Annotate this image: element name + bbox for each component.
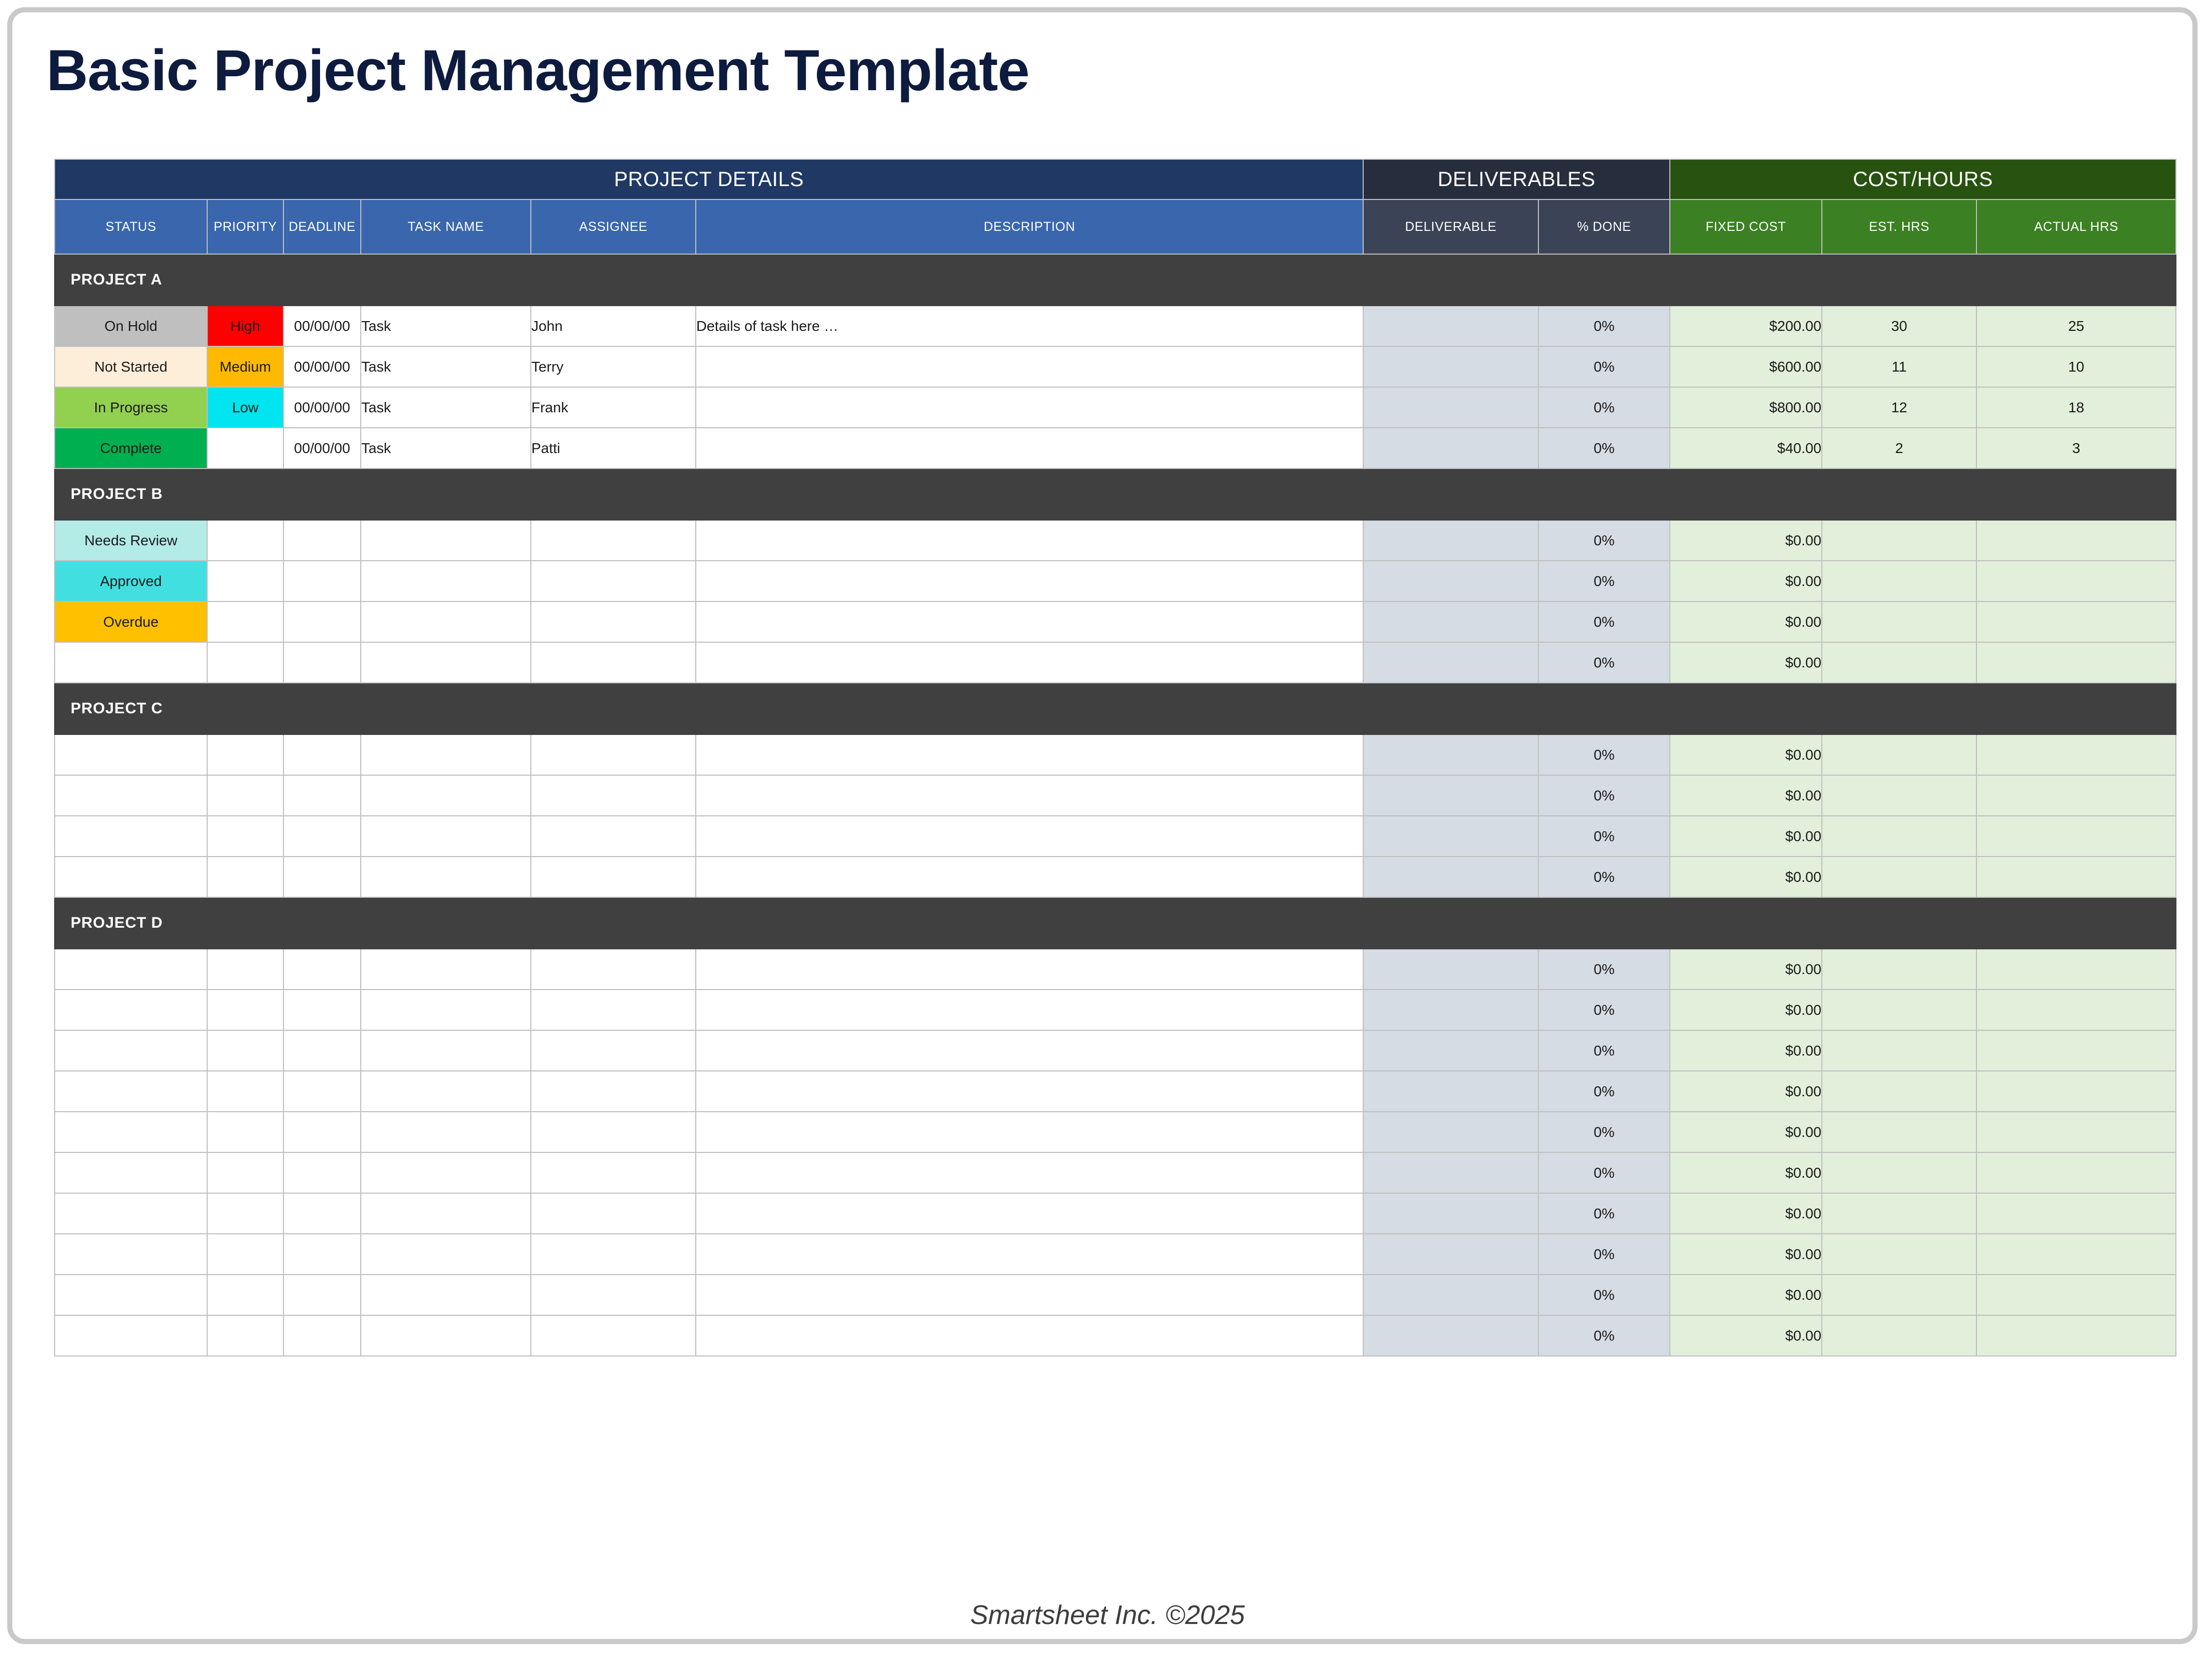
description-cell[interactable] xyxy=(696,346,1363,387)
task-name-cell[interactable] xyxy=(361,775,531,816)
fixed-cost-cell[interactable]: $0.00 xyxy=(1670,1112,1822,1152)
percent-done-cell[interactable]: 0% xyxy=(1538,816,1670,857)
percent-done-cell[interactable]: 0% xyxy=(1538,1030,1670,1071)
fixed-cost-cell[interactable]: $0.00 xyxy=(1670,561,1822,601)
percent-done-cell[interactable]: 0% xyxy=(1538,857,1670,897)
percent-done-cell[interactable]: 0% xyxy=(1538,1275,1670,1315)
percent-done-cell[interactable]: 0% xyxy=(1538,1234,1670,1275)
assignee-cell[interactable] xyxy=(531,601,696,642)
fixed-cost-cell[interactable]: $0.00 xyxy=(1670,642,1822,683)
banner-project-details: PROJECT DETAILS xyxy=(55,159,1363,199)
deadline-cell[interactable] xyxy=(283,1030,361,1071)
percent-done-cell[interactable]: 0% xyxy=(1538,561,1670,601)
assignee-cell[interactable] xyxy=(531,1234,696,1275)
task-name-cell[interactable] xyxy=(361,949,531,990)
deadline-cell[interactable] xyxy=(283,816,361,857)
deadline-cell[interactable] xyxy=(283,642,361,683)
fixed-cost-cell[interactable]: $40.00 xyxy=(1670,428,1822,468)
task-name-cell[interactable] xyxy=(361,561,531,601)
description-cell[interactable] xyxy=(696,816,1363,857)
deliverable-cell[interactable] xyxy=(1363,1152,1538,1193)
fixed-cost-cell[interactable]: $0.00 xyxy=(1670,1030,1822,1071)
assignee-cell[interactable] xyxy=(531,816,696,857)
assignee-cell[interactable] xyxy=(531,642,696,683)
fixed-cost-cell[interactable]: $0.00 xyxy=(1670,1234,1822,1275)
est-hrs-cell[interactable]: 12 xyxy=(1822,387,1976,428)
assignee-cell[interactable] xyxy=(531,561,696,601)
deliverable-cell[interactable] xyxy=(1363,1030,1538,1071)
task-name-cell[interactable] xyxy=(361,1193,531,1234)
priority-cell[interactable] xyxy=(207,601,283,642)
column-header-priority[interactable]: PRIORITY xyxy=(207,199,283,254)
deadline-cell[interactable] xyxy=(283,1315,361,1356)
task-name-cell[interactable] xyxy=(361,520,531,561)
deliverable-cell[interactable] xyxy=(1363,857,1538,897)
table-row: 0%$0.00 xyxy=(55,1071,2176,1112)
priority-cell[interactable] xyxy=(207,1315,283,1356)
actual-hrs-cell[interactable] xyxy=(1976,642,2176,683)
est-hrs-cell[interactable] xyxy=(1822,990,1976,1030)
status-cell[interactable] xyxy=(55,1152,207,1193)
est-hrs-cell[interactable]: 30 xyxy=(1822,306,1976,346)
actual-hrs-cell[interactable]: 25 xyxy=(1976,306,2176,346)
description-cell[interactable] xyxy=(696,520,1363,561)
task-name-cell[interactable] xyxy=(361,1234,531,1275)
deliverable-cell[interactable] xyxy=(1363,1112,1538,1152)
priority-cell[interactable] xyxy=(207,428,283,468)
deliverable-cell[interactable] xyxy=(1363,642,1538,683)
deadline-cell[interactable] xyxy=(283,990,361,1030)
deadline-cell[interactable] xyxy=(283,857,361,897)
actual-hrs-cell[interactable] xyxy=(1976,990,2176,1030)
description-cell[interactable] xyxy=(696,1112,1363,1152)
percent-done-cell[interactable]: 0% xyxy=(1538,990,1670,1030)
assignee-cell[interactable] xyxy=(531,1112,696,1152)
deliverable-cell[interactable] xyxy=(1363,990,1538,1030)
status-cell[interactable]: Approved xyxy=(55,561,207,601)
table-row: 0%$0.00 xyxy=(55,1152,2176,1193)
percent-done-cell[interactable]: 0% xyxy=(1538,775,1670,816)
est-hrs-cell[interactable] xyxy=(1822,1071,1976,1112)
status-cell[interactable] xyxy=(55,990,207,1030)
deliverable-cell[interactable] xyxy=(1363,775,1538,816)
status-cell[interactable] xyxy=(55,642,207,683)
percent-done-cell[interactable]: 0% xyxy=(1538,428,1670,468)
description-cell[interactable]: Details of task here … xyxy=(696,306,1363,346)
percent-done-cell[interactable]: 0% xyxy=(1538,520,1670,561)
est-hrs-cell[interactable] xyxy=(1822,734,1976,775)
fixed-cost-cell[interactable]: $0.00 xyxy=(1670,990,1822,1030)
description-cell[interactable] xyxy=(696,1152,1363,1193)
task-name-cell[interactable] xyxy=(361,1112,531,1152)
table-row: Needs Review0%$0.00 xyxy=(55,520,2176,561)
deadline-cell[interactable]: 00/00/00 xyxy=(283,428,361,468)
status-cell[interactable] xyxy=(55,1275,207,1315)
priority-cell[interactable] xyxy=(207,1112,283,1152)
est-hrs-cell[interactable] xyxy=(1822,1275,1976,1315)
assignee-cell[interactable]: Patti xyxy=(531,428,696,468)
deliverable-cell[interactable] xyxy=(1363,520,1538,561)
deliverable-cell[interactable] xyxy=(1363,1315,1538,1356)
priority-cell[interactable] xyxy=(207,561,283,601)
deadline-cell[interactable] xyxy=(283,1234,361,1275)
fixed-cost-cell[interactable]: $0.00 xyxy=(1670,1193,1822,1234)
fixed-cost-cell[interactable]: $0.00 xyxy=(1670,1315,1822,1356)
description-cell[interactable] xyxy=(696,1234,1363,1275)
table-row: 0%$0.00 xyxy=(55,1112,2176,1152)
est-hrs-cell[interactable] xyxy=(1822,1112,1976,1152)
deliverable-cell[interactable] xyxy=(1363,601,1538,642)
task-name-cell[interactable] xyxy=(361,1152,531,1193)
project-group-label: PROJECT D xyxy=(55,897,2176,949)
assignee-cell[interactable] xyxy=(531,1030,696,1071)
percent-done-cell[interactable]: 0% xyxy=(1538,1071,1670,1112)
banner-row: PROJECT DETAILS DELIVERABLES COST/HOURS xyxy=(55,159,2176,199)
footer-copyright: Smartsheet Inc. ©2025 xyxy=(12,1600,2198,1631)
deadline-cell[interactable]: 00/00/00 xyxy=(283,306,361,346)
est-hrs-cell[interactable] xyxy=(1822,601,1976,642)
column-header-assignee[interactable]: ASSIGNEE xyxy=(531,199,696,254)
task-name-cell[interactable] xyxy=(361,816,531,857)
status-cell[interactable] xyxy=(55,1193,207,1234)
actual-hrs-cell[interactable] xyxy=(1976,520,2176,561)
priority-cell[interactable] xyxy=(207,775,283,816)
status-cell[interactable] xyxy=(55,857,207,897)
project-group-label: PROJECT B xyxy=(55,468,2176,520)
column-header-actual-hrs[interactable]: ACTUAL HRS xyxy=(1976,199,2176,254)
description-cell[interactable] xyxy=(696,1071,1363,1112)
description-cell[interactable] xyxy=(696,642,1363,683)
assignee-cell[interactable] xyxy=(531,1193,696,1234)
fixed-cost-cell[interactable]: $600.00 xyxy=(1670,346,1822,387)
actual-hrs-cell[interactable] xyxy=(1976,775,2176,816)
column-header-status[interactable]: STATUS xyxy=(55,199,207,254)
fixed-cost-cell[interactable]: $0.00 xyxy=(1670,857,1822,897)
actual-hrs-cell[interactable] xyxy=(1976,1275,2176,1315)
column-header-fixed-cost[interactable]: FIXED COST xyxy=(1670,199,1822,254)
assignee-cell[interactable] xyxy=(531,857,696,897)
fixed-cost-cell[interactable]: $0.00 xyxy=(1670,1071,1822,1112)
deadline-cell[interactable] xyxy=(283,775,361,816)
status-cell[interactable] xyxy=(55,1234,207,1275)
percent-done-cell[interactable]: 0% xyxy=(1538,734,1670,775)
priority-cell[interactable]: High xyxy=(207,306,283,346)
priority-cell[interactable] xyxy=(207,1234,283,1275)
status-cell[interactable] xyxy=(55,1030,207,1071)
description-cell[interactable] xyxy=(696,857,1363,897)
est-hrs-cell[interactable] xyxy=(1822,816,1976,857)
status-cell[interactable] xyxy=(55,949,207,990)
table-row: 0%$0.00 xyxy=(55,1315,2176,1356)
project-group-label: PROJECT C xyxy=(55,683,2176,734)
actual-hrs-cell[interactable] xyxy=(1976,949,2176,990)
fixed-cost-cell[interactable]: $0.00 xyxy=(1670,601,1822,642)
assignee-cell[interactable]: John xyxy=(531,306,696,346)
priority-cell[interactable]: Medium xyxy=(207,346,283,387)
deadline-cell[interactable] xyxy=(283,1071,361,1112)
deliverable-cell[interactable] xyxy=(1363,346,1538,387)
percent-done-cell[interactable]: 0% xyxy=(1538,1112,1670,1152)
deliverable-cell[interactable] xyxy=(1363,428,1538,468)
deliverable-cell[interactable] xyxy=(1363,1193,1538,1234)
percent-done-cell[interactable]: 0% xyxy=(1538,346,1670,387)
table-row: Overdue0%$0.00 xyxy=(55,601,2176,642)
percent-done-cell[interactable]: 0% xyxy=(1538,306,1670,346)
project-group-row: PROJECT B xyxy=(55,468,2176,520)
status-cell[interactable] xyxy=(55,734,207,775)
table-row: 0%$0.00 xyxy=(55,1275,2176,1315)
task-name-cell[interactable] xyxy=(361,734,531,775)
column-header-row: STATUS PRIORITY DEADLINE TASK NAME ASSIG… xyxy=(55,199,2176,254)
status-cell[interactable] xyxy=(55,1112,207,1152)
priority-cell[interactable] xyxy=(207,1071,283,1112)
assignee-cell[interactable] xyxy=(531,1152,696,1193)
est-hrs-cell[interactable] xyxy=(1822,561,1976,601)
est-hrs-cell[interactable] xyxy=(1822,1315,1976,1356)
table-row: 0%$0.00 xyxy=(55,949,2176,990)
actual-hrs-cell[interactable] xyxy=(1976,816,2176,857)
description-cell[interactable] xyxy=(696,1315,1363,1356)
percent-done-cell[interactable]: 0% xyxy=(1538,642,1670,683)
column-header-deadline[interactable]: DEADLINE xyxy=(283,199,361,254)
table-row: On HoldHigh00/00/00TaskJohnDetails of ta… xyxy=(55,306,2176,346)
deadline-cell[interactable] xyxy=(283,561,361,601)
banner-deliverables: DELIVERABLES xyxy=(1363,159,1670,199)
percent-done-cell[interactable]: 0% xyxy=(1538,949,1670,990)
est-hrs-cell[interactable] xyxy=(1822,1152,1976,1193)
actual-hrs-cell[interactable] xyxy=(1976,1030,2176,1071)
table-row: 0%$0.00 xyxy=(55,990,2176,1030)
fixed-cost-cell[interactable]: $0.00 xyxy=(1670,520,1822,561)
task-name-cell[interactable] xyxy=(361,642,531,683)
description-cell[interactable] xyxy=(696,601,1363,642)
status-cell[interactable] xyxy=(55,1071,207,1112)
fixed-cost-cell[interactable]: $0.00 xyxy=(1670,1152,1822,1193)
priority-cell[interactable] xyxy=(207,857,283,897)
description-cell[interactable] xyxy=(696,734,1363,775)
description-cell[interactable] xyxy=(696,428,1363,468)
column-header-est-hrs[interactable]: EST. HRS xyxy=(1822,199,1976,254)
description-cell[interactable] xyxy=(696,1275,1363,1315)
project-management-table: PROJECT DETAILS DELIVERABLES COST/HOURS … xyxy=(54,159,2176,1356)
description-cell[interactable] xyxy=(696,1030,1363,1071)
task-name-cell[interactable] xyxy=(361,1275,531,1315)
task-name-cell[interactable] xyxy=(361,1030,531,1071)
deadline-cell[interactable] xyxy=(283,949,361,990)
status-cell[interactable]: Overdue xyxy=(55,601,207,642)
priority-cell[interactable] xyxy=(207,949,283,990)
table-row: 0%$0.00 xyxy=(55,775,2176,816)
column-header-percent-done[interactable]: % DONE xyxy=(1538,199,1670,254)
est-hrs-cell[interactable] xyxy=(1822,775,1976,816)
priority-cell[interactable] xyxy=(207,1030,283,1071)
deliverable-cell[interactable] xyxy=(1363,1275,1538,1315)
table-row: In ProgressLow00/00/00TaskFrank0%$800.00… xyxy=(55,387,2176,428)
est-hrs-cell[interactable] xyxy=(1822,1030,1976,1071)
actual-hrs-cell[interactable] xyxy=(1976,1152,2176,1193)
fixed-cost-cell[interactable]: $200.00 xyxy=(1670,306,1822,346)
task-name-cell[interactable]: Task xyxy=(361,306,531,346)
description-cell[interactable] xyxy=(696,775,1363,816)
task-name-cell[interactable]: Task xyxy=(361,346,531,387)
table-row: 0%$0.00 xyxy=(55,1193,2176,1234)
task-name-cell[interactable] xyxy=(361,1071,531,1112)
percent-done-cell[interactable]: 0% xyxy=(1538,601,1670,642)
deadline-cell[interactable] xyxy=(283,1275,361,1315)
assignee-cell[interactable] xyxy=(531,1275,696,1315)
priority-cell[interactable] xyxy=(207,990,283,1030)
deadline-cell[interactable]: 00/00/00 xyxy=(283,387,361,428)
description-cell[interactable] xyxy=(696,949,1363,990)
priority-cell[interactable]: Low xyxy=(207,387,283,428)
deadline-cell[interactable] xyxy=(283,734,361,775)
actual-hrs-cell[interactable] xyxy=(1976,734,2176,775)
column-header-deliverable[interactable]: DELIVERABLE xyxy=(1363,199,1538,254)
task-name-cell[interactable] xyxy=(361,601,531,642)
column-header-task-name[interactable]: TASK NAME xyxy=(361,199,531,254)
deliverable-cell[interactable] xyxy=(1363,387,1538,428)
est-hrs-cell[interactable] xyxy=(1822,1234,1976,1275)
task-name-cell[interactable] xyxy=(361,857,531,897)
assignee-cell[interactable]: Frank xyxy=(531,387,696,428)
description-cell[interactable] xyxy=(696,1193,1363,1234)
actual-hrs-cell[interactable]: 10 xyxy=(1976,346,2176,387)
table-row: Complete00/00/00TaskPatti0%$40.0023 xyxy=(55,428,2176,468)
priority-cell[interactable] xyxy=(207,1193,283,1234)
est-hrs-cell[interactable] xyxy=(1822,1193,1976,1234)
project-group-row: PROJECT C xyxy=(55,683,2176,734)
percent-done-cell[interactable]: 0% xyxy=(1538,1315,1670,1356)
table-row: 0%$0.00 xyxy=(55,1234,2176,1275)
task-name-cell[interactable]: Task xyxy=(361,387,531,428)
assignee-cell[interactable] xyxy=(531,1071,696,1112)
assignee-cell[interactable]: Terry xyxy=(531,346,696,387)
deadline-cell[interactable] xyxy=(283,1152,361,1193)
priority-cell[interactable] xyxy=(207,520,283,561)
banner-cost-hours: COST/HOURS xyxy=(1670,159,2176,199)
fixed-cost-cell[interactable]: $0.00 xyxy=(1670,1275,1822,1315)
table-row: Not StartedMedium00/00/00TaskTerry0%$600… xyxy=(55,346,2176,387)
percent-done-cell[interactable]: 0% xyxy=(1538,1152,1670,1193)
table-row: 0%$0.00 xyxy=(55,642,2176,683)
fixed-cost-cell[interactable]: $0.00 xyxy=(1670,775,1822,816)
status-cell[interactable] xyxy=(55,816,207,857)
est-hrs-cell[interactable] xyxy=(1822,857,1976,897)
deliverable-cell[interactable] xyxy=(1363,306,1538,346)
description-cell[interactable] xyxy=(696,990,1363,1030)
status-cell[interactable] xyxy=(55,1315,207,1356)
assignee-cell[interactable] xyxy=(531,1315,696,1356)
assignee-cell[interactable] xyxy=(531,520,696,561)
percent-done-cell[interactable]: 0% xyxy=(1538,387,1670,428)
actual-hrs-cell[interactable] xyxy=(1976,1071,2176,1112)
task-name-cell[interactable] xyxy=(361,990,531,1030)
status-cell[interactable]: Complete xyxy=(55,428,207,468)
page-title: Basic Project Management Template xyxy=(46,37,1029,104)
deadline-cell[interactable] xyxy=(283,1112,361,1152)
table-row: 0%$0.00 xyxy=(55,1030,2176,1071)
description-cell[interactable] xyxy=(696,561,1363,601)
fixed-cost-cell[interactable]: $0.00 xyxy=(1670,734,1822,775)
fixed-cost-cell[interactable]: $0.00 xyxy=(1670,816,1822,857)
deadline-cell[interactable] xyxy=(283,520,361,561)
status-cell[interactable]: Not Started xyxy=(55,346,207,387)
actual-hrs-cell[interactable] xyxy=(1976,1193,2176,1234)
priority-cell[interactable] xyxy=(207,1152,283,1193)
actual-hrs-cell[interactable]: 3 xyxy=(1976,428,2176,468)
deliverable-cell[interactable] xyxy=(1363,949,1538,990)
project-group-row: PROJECT A xyxy=(55,254,2176,306)
est-hrs-cell[interactable]: 11 xyxy=(1822,346,1976,387)
deadline-cell[interactable]: 00/00/00 xyxy=(283,346,361,387)
task-name-cell[interactable] xyxy=(361,1315,531,1356)
actual-hrs-cell[interactable] xyxy=(1976,1234,2176,1275)
actual-hrs-cell[interactable] xyxy=(1976,857,2176,897)
deliverable-cell[interactable] xyxy=(1363,816,1538,857)
project-group-row: PROJECT D xyxy=(55,897,2176,949)
priority-cell[interactable] xyxy=(207,1275,283,1315)
status-cell[interactable]: On Hold xyxy=(55,306,207,346)
est-hrs-cell[interactable] xyxy=(1822,642,1976,683)
priority-cell[interactable] xyxy=(207,734,283,775)
actual-hrs-cell[interactable]: 18 xyxy=(1976,387,2176,428)
assignee-cell[interactable] xyxy=(531,949,696,990)
table-row: 0%$0.00 xyxy=(55,734,2176,775)
deliverable-cell[interactable] xyxy=(1363,1071,1538,1112)
assignee-cell[interactable] xyxy=(531,734,696,775)
priority-cell[interactable] xyxy=(207,642,283,683)
table-row: Approved0%$0.00 xyxy=(55,561,2176,601)
fixed-cost-cell[interactable]: $800.00 xyxy=(1670,387,1822,428)
actual-hrs-cell[interactable] xyxy=(1976,561,2176,601)
project-group-label: PROJECT A xyxy=(55,254,2176,306)
fixed-cost-cell[interactable]: $0.00 xyxy=(1670,949,1822,990)
deliverable-cell[interactable] xyxy=(1363,734,1538,775)
actual-hrs-cell[interactable] xyxy=(1976,601,2176,642)
assignee-cell[interactable] xyxy=(531,775,696,816)
table-row: 0%$0.00 xyxy=(55,857,2176,897)
status-cell[interactable]: Needs Review xyxy=(55,520,207,561)
est-hrs-cell[interactable] xyxy=(1822,949,1976,990)
column-header-description[interactable]: DESCRIPTION xyxy=(696,199,1363,254)
deliverable-cell[interactable] xyxy=(1363,1234,1538,1275)
task-name-cell[interactable]: Task xyxy=(361,428,531,468)
actual-hrs-cell[interactable] xyxy=(1976,1315,2176,1356)
page-card: Basic Project Management Template PROJEC… xyxy=(7,7,2198,1644)
est-hrs-cell[interactable]: 2 xyxy=(1822,428,1976,468)
percent-done-cell[interactable]: 0% xyxy=(1538,1193,1670,1234)
deadline-cell[interactable] xyxy=(283,1193,361,1234)
deliverable-cell[interactable] xyxy=(1363,561,1538,601)
priority-cell[interactable] xyxy=(207,816,283,857)
table-body: PROJECT AOn HoldHigh00/00/00TaskJohnDeta… xyxy=(55,254,2176,1356)
description-cell[interactable] xyxy=(696,387,1363,428)
actual-hrs-cell[interactable] xyxy=(1976,1112,2176,1152)
assignee-cell[interactable] xyxy=(531,990,696,1030)
est-hrs-cell[interactable] xyxy=(1822,520,1976,561)
table-row: 0%$0.00 xyxy=(55,816,2176,857)
status-cell[interactable]: In Progress xyxy=(55,387,207,428)
deadline-cell[interactable] xyxy=(283,601,361,642)
status-cell[interactable] xyxy=(55,775,207,816)
